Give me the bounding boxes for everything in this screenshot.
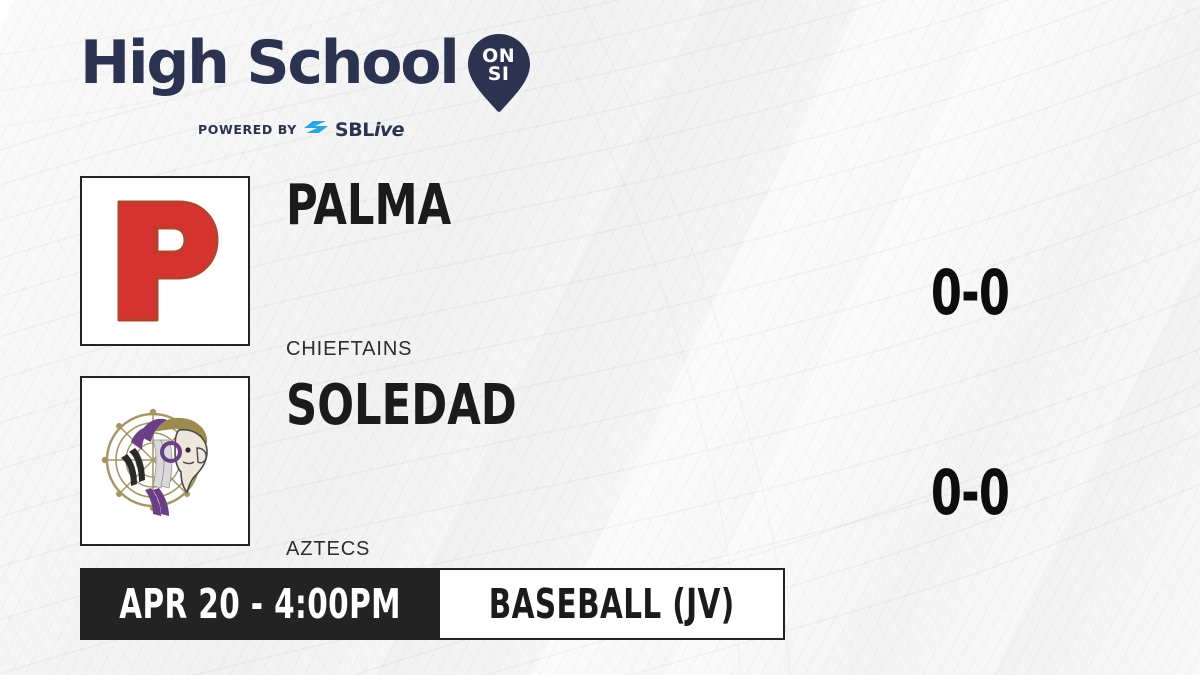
away-team-record: 0-0 — [898, 462, 1042, 524]
home-team-name: PALMA — [286, 178, 451, 234]
sblive-word-main: SBL — [335, 119, 374, 141]
game-datetime-label: APR 20 - 4:00PM — [119, 584, 401, 625]
home-team-logo-box — [80, 176, 250, 346]
game-datetime-block: APR 20 - 4:00PM — [80, 568, 440, 640]
pin-label-bottom: SI — [468, 65, 530, 83]
scoreboard-graphic: High School ON SI POWERED BY SBLive — [0, 0, 1200, 675]
game-sport-block: BASEBALL (JV) — [440, 568, 785, 640]
brand-lockup: High School ON SI POWERED BY SBLive — [80, 32, 530, 140]
away-team-mascot: AZTECS — [286, 538, 370, 561]
home-team-mascot: CHIEFTAINS — [286, 338, 412, 361]
game-meta-bar: APR 20 - 4:00PM BASEBALL (JV) — [80, 568, 785, 640]
brand-title: High School — [80, 32, 458, 94]
palma-p-logo-icon — [105, 196, 225, 326]
powered-by-label: POWERED BY — [198, 122, 297, 137]
brand-title-row: High School ON SI — [80, 32, 530, 112]
map-pin-icon: ON SI — [468, 34, 530, 112]
game-sport-label: BASEBALL (JV) — [489, 584, 735, 625]
sblive-wordmark: SBLive — [335, 119, 404, 141]
away-team-name: SOLEDAD — [286, 378, 517, 434]
pin-label: ON SI — [468, 47, 530, 83]
sblive-s-icon — [304, 121, 328, 140]
home-team-record: 0-0 — [898, 262, 1042, 324]
powered-by-row: POWERED BY SBLive — [198, 118, 530, 140]
sblive-word-italic: ive — [374, 119, 404, 141]
away-team-logo-box — [80, 376, 250, 546]
soledad-aztec-warrior-logo-icon — [95, 396, 235, 526]
